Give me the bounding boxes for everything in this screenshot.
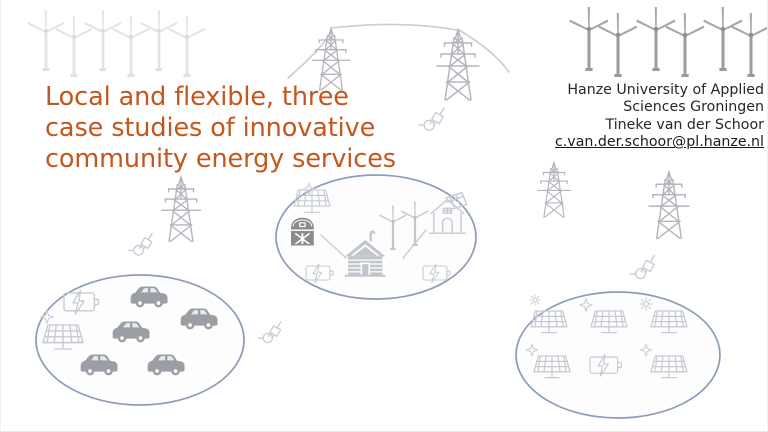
wind-farm-top-right: [569, 7, 768, 77]
solar-cluster: [516, 292, 720, 418]
plug-connector-left: [127, 233, 158, 258]
barn-icon: [291, 218, 314, 246]
wind-farm-top-left: [27, 10, 205, 77]
electric-vehicle-cluster: [36, 275, 244, 405]
transmission-tower-mid-right-b: [649, 172, 689, 239]
sun-icon: [530, 295, 540, 305]
transmission-tower-mid-left: [162, 177, 201, 241]
affiliation-university-line2: Sciences Groningen: [506, 99, 764, 116]
slide-canvas: Local and flexible, three case studies o…: [0, 0, 768, 432]
affiliation-email-link[interactable]: c.van.der.schoor@pl.hanze.nl: [555, 134, 764, 151]
transmission-tower-mid-right-a: [538, 162, 571, 217]
energy-system-diagram: [1, 0, 768, 432]
transmission-tower-top-left: [313, 29, 350, 91]
plug-connector-right: [629, 256, 661, 283]
affiliation-author: Tineke van der Schoor: [506, 117, 764, 134]
affiliation-university-line1: Hanze University of Applied: [506, 82, 764, 99]
power-line: [288, 24, 509, 78]
affiliation-block: Hanze University of Applied Sciences Gro…: [506, 82, 764, 152]
village-cluster: [276, 175, 476, 299]
page-title: Local and flexible, three case studies o…: [45, 82, 445, 175]
plug-connector-centre-left: [257, 322, 287, 346]
